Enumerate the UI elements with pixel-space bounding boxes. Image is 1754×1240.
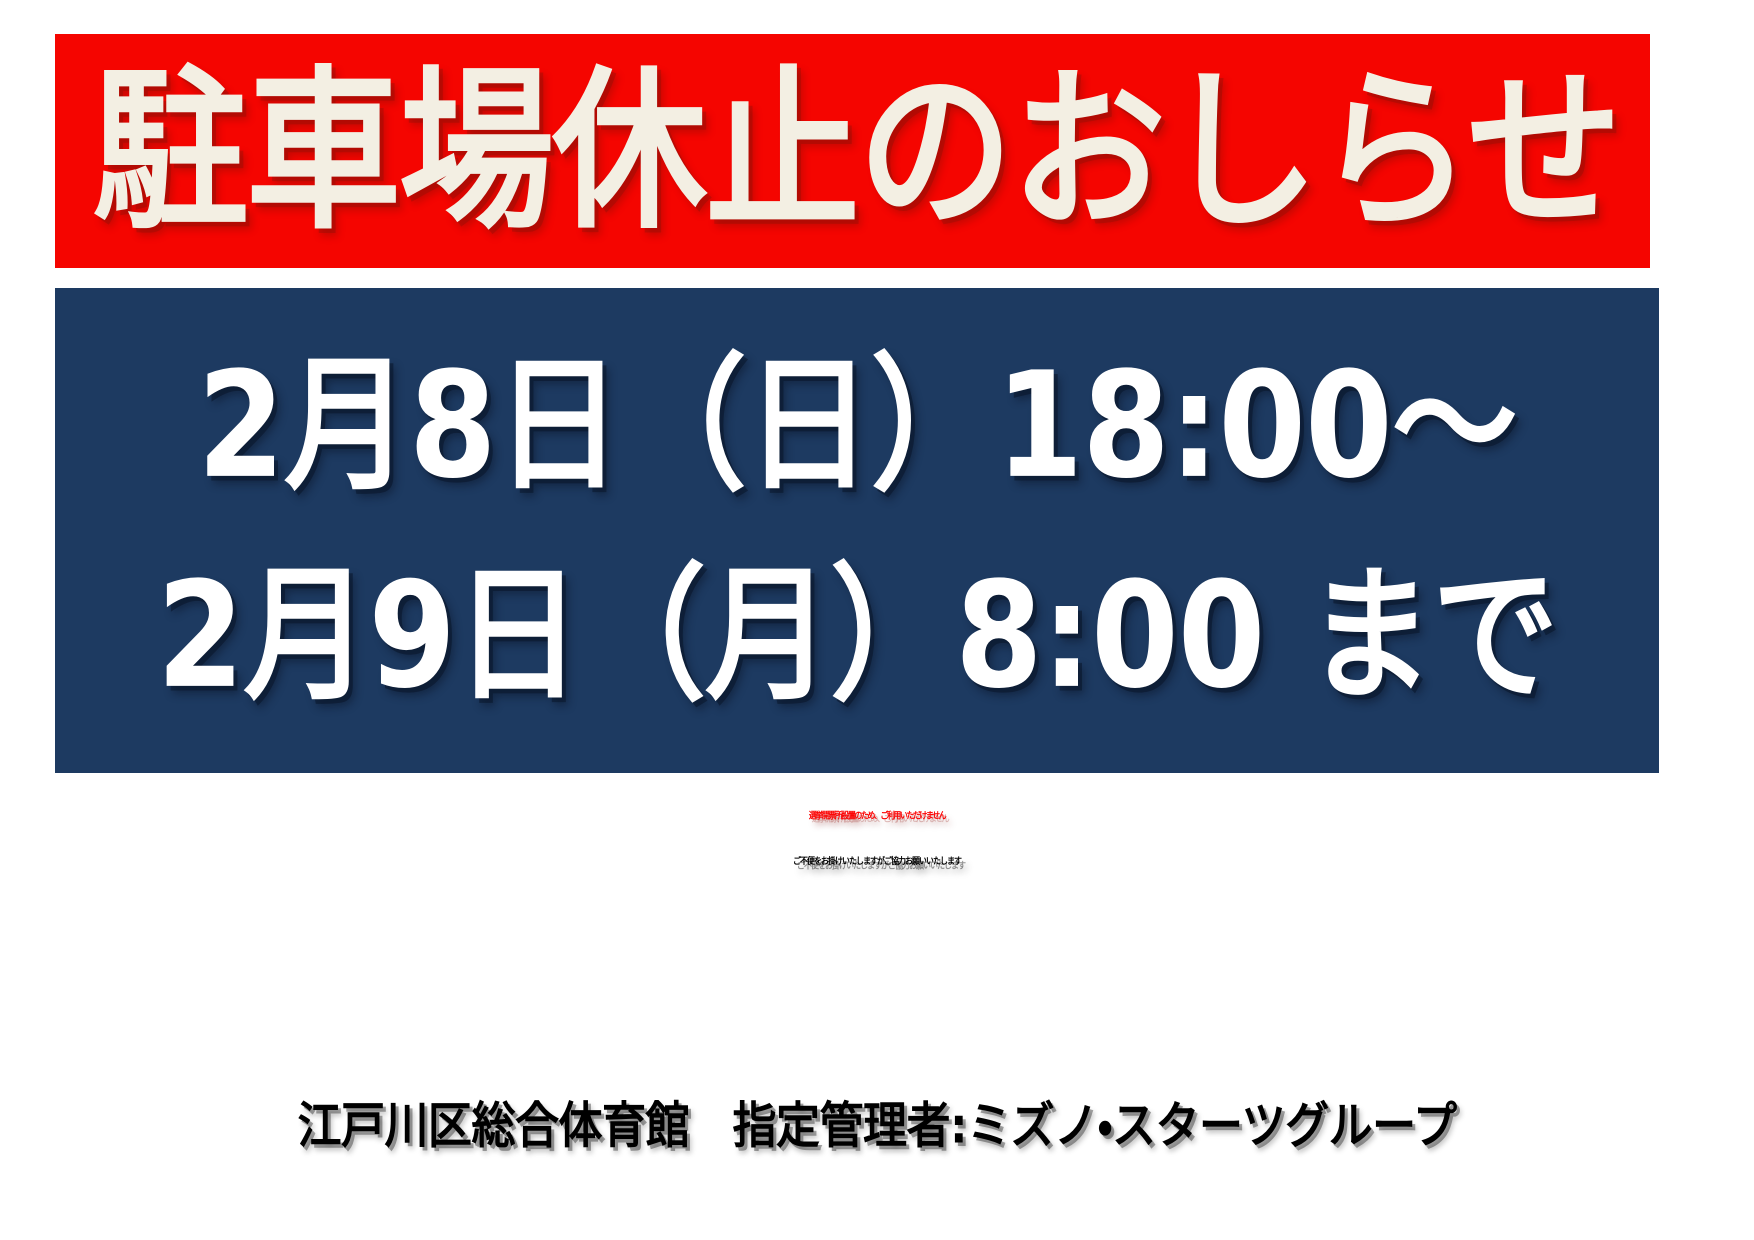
footer-issuer-text: 江戸川区総合体育館 指定管理者:ミズノ・スターツグループ bbox=[297, 1102, 1456, 1151]
footer: 江戸川区総合体育館 指定管理者:ミズノ・スターツグループ bbox=[0, 1105, 1754, 1149]
closure-end-datetime: 2月9日（月）8:00 まで bbox=[157, 546, 1558, 724]
notice-poster: 駐車場休止のおしらせ 2月8日（日）18:00～ 2月9日（月）8:00 まで … bbox=[0, 0, 1754, 1240]
poster-title: 駐車場休止のおしらせ bbox=[85, 64, 1620, 238]
title-banner: 駐車場休止のおしらせ bbox=[55, 34, 1650, 268]
notice-block: 選挙開票所設置のため、ご利用いただけません ご不便をお掛けいたしますがご協力お願… bbox=[0, 812, 1754, 867]
closure-start-datetime: 2月8日（日）18:00～ bbox=[197, 336, 1516, 514]
date-panel: 2月8日（日）18:00～ 2月9日（月）8:00 まで bbox=[55, 288, 1659, 773]
apology-text: ご不便をお掛けいたしますがご協力お願いいたします bbox=[0, 858, 1754, 867]
closure-reason-text: 選挙開票所設置のため、ご利用いただけません bbox=[0, 811, 1754, 821]
